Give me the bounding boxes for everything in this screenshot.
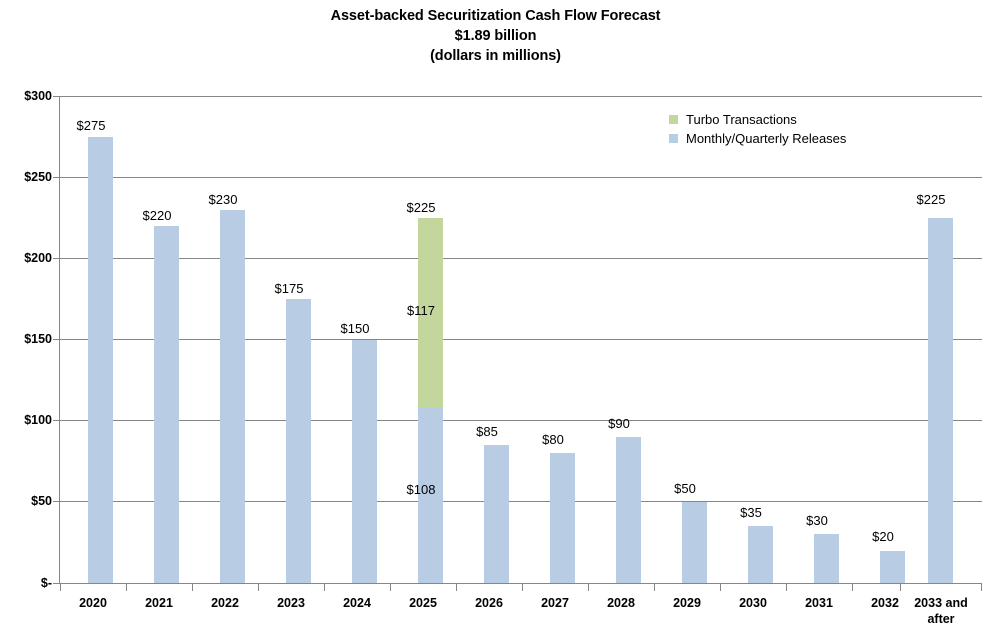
x-tick-mark-8 bbox=[588, 584, 589, 591]
x-tick-mark-9 bbox=[654, 584, 655, 591]
y-tick-label-250: $250 bbox=[6, 170, 52, 184]
x-tick-mark-2 bbox=[192, 584, 193, 591]
gridline-300 bbox=[60, 96, 982, 97]
bar-segment-releases-2020[interactable] bbox=[88, 137, 113, 583]
x-tick-mark-10 bbox=[720, 584, 721, 591]
data-label-2028: $90 bbox=[586, 416, 652, 431]
x-tick-mark-13 bbox=[900, 584, 901, 591]
x-tick-mark-7 bbox=[522, 584, 523, 591]
bar-segment-releases-2028[interactable] bbox=[616, 437, 641, 583]
legend-item-monthly-quarterly-releases[interactable]: Monthly/Quarterly Releases bbox=[669, 130, 846, 147]
x-tick-mark-3 bbox=[258, 584, 259, 591]
x-axis-label-2029: 2029 bbox=[654, 595, 720, 611]
y-tick-label-50: $50 bbox=[6, 494, 52, 508]
chart-title-line-1: Asset-backed Securitization Cash Flow Fo… bbox=[0, 6, 991, 26]
x-axis-label-2026: 2026 bbox=[456, 595, 522, 611]
legend-item-turbo-transactions[interactable]: Turbo Transactions bbox=[669, 111, 846, 128]
x-axis-label-2025: 2025 bbox=[390, 595, 456, 611]
data-label-2032: $20 bbox=[850, 529, 916, 544]
x-tick-mark-12 bbox=[852, 584, 853, 591]
data-label-2025-turbo: $117 bbox=[388, 303, 454, 318]
bar-segment-releases-2030[interactable] bbox=[748, 526, 773, 583]
x-tick-mark-0 bbox=[60, 584, 61, 591]
legend-swatch-turbo-transactions bbox=[669, 115, 678, 124]
data-label-2021: $220 bbox=[124, 208, 190, 223]
x-tick-mark-6 bbox=[456, 584, 457, 591]
x-axis-label-2027: 2027 bbox=[522, 595, 588, 611]
bar-segment-releases-2033-and-after[interactable] bbox=[928, 218, 953, 583]
gridline-200 bbox=[60, 258, 982, 259]
bar-segment-releases-2027[interactable] bbox=[550, 453, 575, 583]
x-tick-mark-1 bbox=[126, 584, 127, 591]
x-axis-label-2033-and-after: 2033 and after bbox=[900, 595, 982, 627]
bar-segment-releases-2026[interactable] bbox=[484, 445, 509, 583]
data-label-2024: $150 bbox=[322, 321, 388, 336]
x-axis-label-2020: 2020 bbox=[60, 595, 126, 611]
data-label-2031: $30 bbox=[784, 513, 850, 528]
chart-root: Asset-backed Securitization Cash Flow Fo… bbox=[0, 0, 991, 636]
x-axis-label-2023: 2023 bbox=[258, 595, 324, 611]
bar-segment-releases-2031[interactable] bbox=[814, 534, 839, 583]
x-tick-mark-11 bbox=[786, 584, 787, 591]
gridline-50 bbox=[60, 501, 982, 502]
gridline-baseline bbox=[60, 583, 982, 584]
gridline-100 bbox=[60, 420, 982, 421]
chart-legend: Turbo Transactions Monthly/Quarterly Rel… bbox=[669, 111, 846, 149]
x-tick-mark-14 bbox=[981, 584, 982, 591]
y-tick-label-150: $150 bbox=[6, 332, 52, 346]
x-tick-mark-5 bbox=[390, 584, 391, 591]
y-tick-label-300: $300 bbox=[6, 89, 52, 103]
data-label-2025-releases: $108 bbox=[388, 482, 454, 497]
data-label-2025-total: $225 bbox=[388, 200, 454, 215]
data-label-2029: $50 bbox=[652, 481, 718, 496]
bar-segment-releases-2023[interactable] bbox=[286, 299, 311, 583]
bar-segment-releases-2024[interactable] bbox=[352, 340, 377, 584]
legend-label-turbo-transactions: Turbo Transactions bbox=[686, 112, 797, 127]
chart-title-line-3: (dollars in millions) bbox=[0, 46, 991, 66]
chart-title-line-2: $1.89 billion bbox=[0, 26, 991, 46]
x-axis-label-2022: 2022 bbox=[192, 595, 258, 611]
y-tick-label-100: $100 bbox=[6, 413, 52, 427]
data-label-2026: $85 bbox=[454, 424, 520, 439]
plot-area bbox=[60, 96, 982, 583]
x-axis-label-2031: 2031 bbox=[786, 595, 852, 611]
data-label-2027: $80 bbox=[520, 432, 586, 447]
y-axis: $300 $250 $200 $150 $100 $50 $- bbox=[0, 0, 52, 636]
data-label-2022: $230 bbox=[190, 192, 256, 207]
x-axis-label-2024: 2024 bbox=[324, 595, 390, 611]
x-axis-label-2030: 2030 bbox=[720, 595, 786, 611]
x-axis-label-2021: 2021 bbox=[126, 595, 192, 611]
data-label-2020: $275 bbox=[58, 118, 124, 133]
data-label-2030: $35 bbox=[718, 505, 784, 520]
x-tick-mark-4 bbox=[324, 584, 325, 591]
chart-title: Asset-backed Securitization Cash Flow Fo… bbox=[0, 6, 991, 66]
bar-segment-releases-2022[interactable] bbox=[220, 210, 245, 583]
bar-segment-releases-2029[interactable] bbox=[682, 502, 707, 583]
legend-label-monthly-quarterly-releases: Monthly/Quarterly Releases bbox=[686, 131, 846, 146]
data-label-2033-and-after: $225 bbox=[898, 192, 964, 207]
bar-segment-releases-2021[interactable] bbox=[154, 226, 179, 583]
legend-swatch-monthly-quarterly-releases bbox=[669, 134, 678, 143]
gridline-150 bbox=[60, 339, 982, 340]
data-label-2023: $175 bbox=[256, 281, 322, 296]
gridline-250 bbox=[60, 177, 982, 178]
x-axis-label-2028: 2028 bbox=[588, 595, 654, 611]
bar-segment-releases-2032[interactable] bbox=[880, 551, 905, 583]
y-tick-label-0: $- bbox=[6, 576, 52, 590]
y-tick-label-200: $200 bbox=[6, 251, 52, 265]
